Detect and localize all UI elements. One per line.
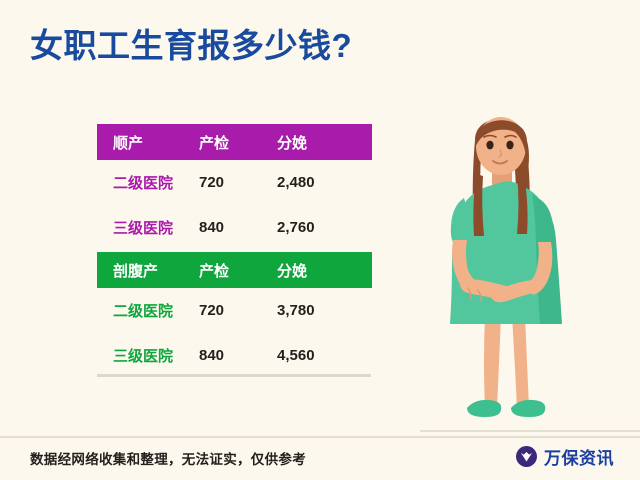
table-poufuchan: 剖腹产 产检 分娩 二级医院 720 3,780 三级医院 840 4,560 [97, 252, 372, 378]
column-header-delivery: 分娩 [277, 132, 356, 153]
column-header-checkup: 产检 [199, 260, 277, 281]
cell-hospital-level: 二级医院 [97, 300, 199, 321]
cell-delivery-amount: 2,760 [277, 219, 356, 236]
brand-name: 万保资讯 [544, 444, 614, 469]
footer-disclaimer: 数据经网络收集和整理，无法证实，仅供参考 [30, 448, 306, 468]
cell-delivery-amount: 4,560 [277, 347, 356, 364]
cell-hospital-level: 二级医院 [97, 172, 199, 193]
brand-lockup: 万保资讯 [516, 444, 614, 469]
table-row: 三级医院 840 4,560 [97, 333, 372, 378]
column-header-category: 顺产 [97, 132, 199, 153]
table-bottom-rule [97, 374, 371, 377]
pregnant-woman-illustration [420, 98, 640, 433]
table-header-row: 顺产 产检 分娩 [97, 124, 372, 160]
slide-canvas: 女职工生育报多少钱? 顺产 产检 分娩 二级医院 720 2,480 三级医院 … [0, 0, 640, 480]
cell-hospital-level: 三级医院 [97, 345, 199, 366]
column-header-checkup: 产检 [199, 132, 277, 153]
cell-checkup-amount: 720 [199, 302, 277, 319]
brand-crown-icon [516, 446, 537, 467]
column-header-delivery: 分娩 [277, 260, 356, 281]
table-row: 三级医院 840 2,760 [97, 205, 372, 250]
column-header-category: 剖腹产 [97, 260, 199, 281]
cell-delivery-amount: 2,480 [277, 174, 356, 191]
table-row: 二级医院 720 3,780 [97, 288, 372, 333]
cell-hospital-level: 三级医院 [97, 217, 199, 238]
footer-divider [0, 436, 640, 438]
cell-checkup-amount: 840 [199, 347, 277, 364]
cell-checkup-amount: 720 [199, 174, 277, 191]
table-row: 二级医院 720 2,480 [97, 160, 372, 205]
cell-checkup-amount: 840 [199, 219, 277, 236]
page-title: 女职工生育报多少钱? [30, 26, 352, 66]
table-shunchan: 顺产 产检 分娩 二级医院 720 2,480 三级医院 840 2,760 [97, 124, 372, 250]
table-header-row: 剖腹产 产检 分娩 [97, 252, 372, 288]
cell-delivery-amount: 3,780 [277, 302, 356, 319]
